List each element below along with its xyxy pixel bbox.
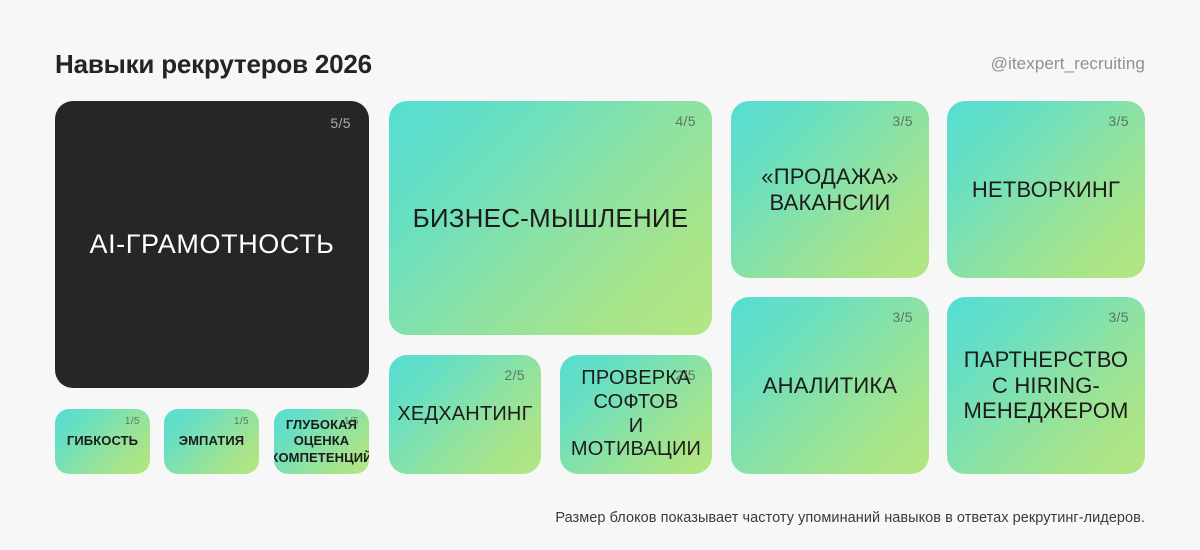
skill-score-badge: 1/5: [344, 416, 359, 427]
skill-card-analytics[interactable]: 3/5 АНАЛИТИКА: [731, 297, 929, 474]
skill-card-vacancy-selling[interactable]: 3/5 «ПРОДАЖА» ВАКАНСИИ: [731, 101, 929, 278]
skill-score-badge: 4/5: [675, 113, 696, 129]
skill-score-badge: 3/5: [1108, 309, 1129, 325]
skill-card-label: НЕТВОРКИНГ: [972, 177, 1120, 203]
skill-score-badge: 3/5: [1108, 113, 1129, 129]
infographic-canvas: Навыки рекрутеров 2026 @itexpert_recruit…: [0, 0, 1200, 550]
skill-card-label: БИЗНЕС-МЫШЛЕНИЕ: [413, 203, 689, 234]
skill-card-flexibility[interactable]: 1/5 ГИБКОСТЬ: [55, 409, 150, 474]
skill-card-label: ХЕДХАНТИНГ: [397, 403, 532, 427]
skill-card-label: АНАЛИТИКА: [763, 373, 898, 399]
skill-score-badge: 2/5: [675, 367, 696, 383]
skill-card-label: ГИБКОСТЬ: [67, 433, 138, 449]
skill-score-badge: 1/5: [125, 416, 140, 427]
skill-card-hiring-manager-partnership[interactable]: 3/5 ПАРТНЕРСТВО С HIRING- МЕНЕДЖЕРОМ: [947, 297, 1145, 474]
skill-card-networking[interactable]: 3/5 НЕТВОРКИНГ: [947, 101, 1145, 278]
skill-card-empathy[interactable]: 1/5 ЭМПАТИЯ: [164, 409, 259, 474]
skill-score-badge: 5/5: [330, 115, 351, 131]
skill-card-headhunting[interactable]: 2/5 ХЕДХАНТИНГ: [389, 355, 541, 474]
skill-score-badge: 2/5: [504, 367, 525, 383]
skill-card-grid: 5/5 AI-ГРАМОТНОСТЬ 4/5 БИЗНЕС-МЫШЛЕНИЕ 3…: [0, 0, 1200, 550]
footer-note: Размер блоков показывает частоту упомина…: [555, 510, 1145, 526]
skill-card-deep-competency-assessment[interactable]: 1/5 ГЛУБОКАЯ ОЦЕНКА КОМПЕТЕНЦИЙ: [274, 409, 369, 474]
skill-card-label: AI-ГРАМОТНОСТЬ: [89, 229, 334, 261]
skill-card-ai-literacy[interactable]: 5/5 AI-ГРАМОТНОСТЬ: [55, 101, 369, 388]
skill-card-label: ПАРТНЕРСТВО С HIRING- МЕНЕДЖЕРОМ: [963, 347, 1128, 425]
skill-card-business-thinking[interactable]: 4/5 БИЗНЕС-МЫШЛЕНИЕ: [389, 101, 712, 335]
skill-score-badge: 1/5: [234, 416, 249, 427]
skill-card-label: ЭМПАТИЯ: [179, 433, 245, 449]
skill-score-badge: 3/5: [892, 309, 913, 325]
skill-score-badge: 3/5: [892, 113, 913, 129]
skill-card-soft-skills-check[interactable]: 2/5 ПРОВЕРКА СОФТОВ И МОТИВАЦИИ: [560, 355, 712, 474]
skill-card-label: «ПРОДАЖА» ВАКАНСИИ: [761, 164, 898, 216]
